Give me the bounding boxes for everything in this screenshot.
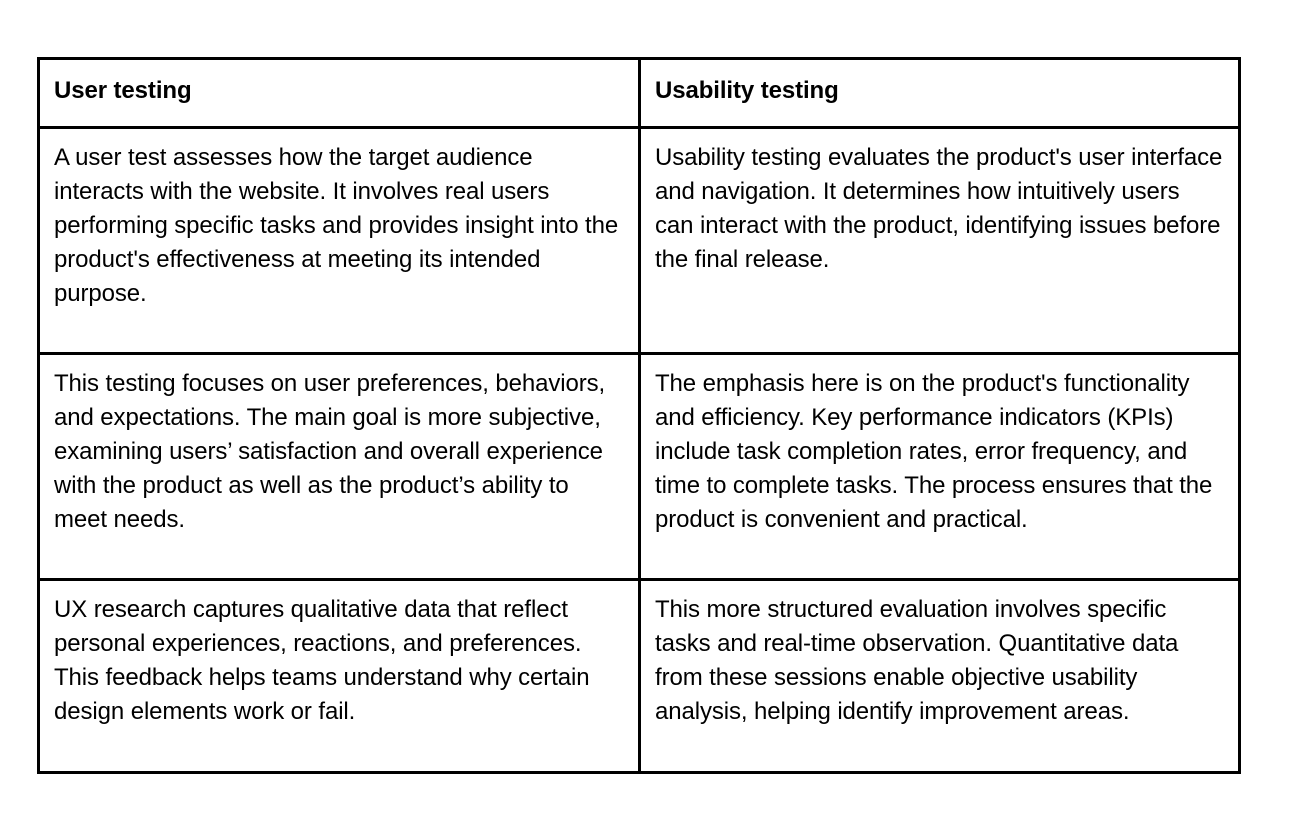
table-body: A user test assesses how the target audi… [39,128,1240,773]
cell-user-testing-2: This testing focuses on user preferences… [39,354,640,580]
table-row: A user test assesses how the target audi… [39,128,1240,354]
cell-text: This testing focuses on user preferences… [54,367,624,537]
column-header-user-testing: User testing [39,59,640,128]
page-canvas: User testing Usability testing A user te… [0,0,1298,838]
cell-text: UX research captures qualitative data th… [54,593,624,729]
cell-usability-testing-2: The emphasis here is on the product's fu… [640,354,1240,580]
cell-text: A user test assesses how the target audi… [54,141,624,311]
comparison-table: User testing Usability testing A user te… [37,57,1241,774]
table-row: This testing focuses on user preferences… [39,354,1240,580]
cell-user-testing-3: UX research captures qualitative data th… [39,580,640,773]
cell-user-testing-1: A user test assesses how the target audi… [39,128,640,354]
cell-usability-testing-3: This more structured evaluation involves… [640,580,1240,773]
cell-text: Usability testing evaluates the product'… [655,141,1224,277]
table-row: UX research captures qualitative data th… [39,580,1240,773]
table-header: User testing Usability testing [39,59,1240,128]
cell-usability-testing-1: Usability testing evaluates the product'… [640,128,1240,354]
column-header-usability-testing: Usability testing [640,59,1240,128]
cell-text: This more structured evaluation involves… [655,593,1224,729]
table-header-row: User testing Usability testing [39,59,1240,128]
cell-text: The emphasis here is on the product's fu… [655,367,1224,537]
